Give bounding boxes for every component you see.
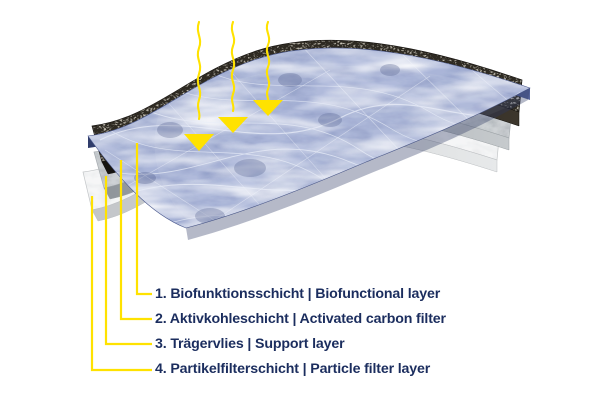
legend-label-support: 3. Trägervlies | Support layer: [155, 336, 345, 352]
legend-row-3: 3. Trägervlies | Support layer: [155, 331, 595, 356]
legend-row-2: 2. Aktivkohleschicht | Activated carbon …: [155, 306, 595, 331]
figure-canvas: 1. Biofunktionsschicht | Biofunctional l…: [0, 0, 600, 400]
legend-row-1: 1. Biofunktionsschicht | Biofunctional l…: [155, 281, 595, 306]
legend-row-4: 4. Partikelfilterschicht | Particle filt…: [155, 356, 595, 381]
legend-label-activated-carbon: 2. Aktivkohleschicht | Activated carbon …: [155, 311, 446, 327]
legend-label-biofunctional: 1. Biofunktionsschicht | Biofunctional l…: [155, 286, 440, 302]
legend-label-particle-filter: 4. Partikelfilterschicht | Particle filt…: [155, 361, 430, 377]
legend: 1. Biofunktionsschicht | Biofunctional l…: [155, 281, 595, 381]
